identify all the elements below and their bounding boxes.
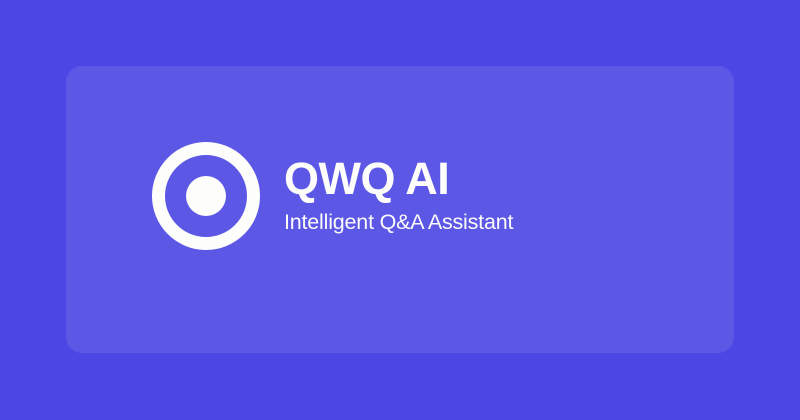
- brand-lockup: QWQ AI Intelligent Q&A Assistant: [152, 142, 513, 250]
- app-background: QWQ AI Intelligent Q&A Assistant: [0, 0, 800, 420]
- brand-text-block: QWQ AI Intelligent Q&A Assistant: [284, 156, 513, 237]
- app-title: QWQ AI: [284, 156, 449, 202]
- target-ring-icon: [152, 142, 260, 250]
- app-subtitle: Intelligent Q&A Assistant: [284, 211, 513, 235]
- brand-hero-card: QWQ AI Intelligent Q&A Assistant: [66, 66, 734, 353]
